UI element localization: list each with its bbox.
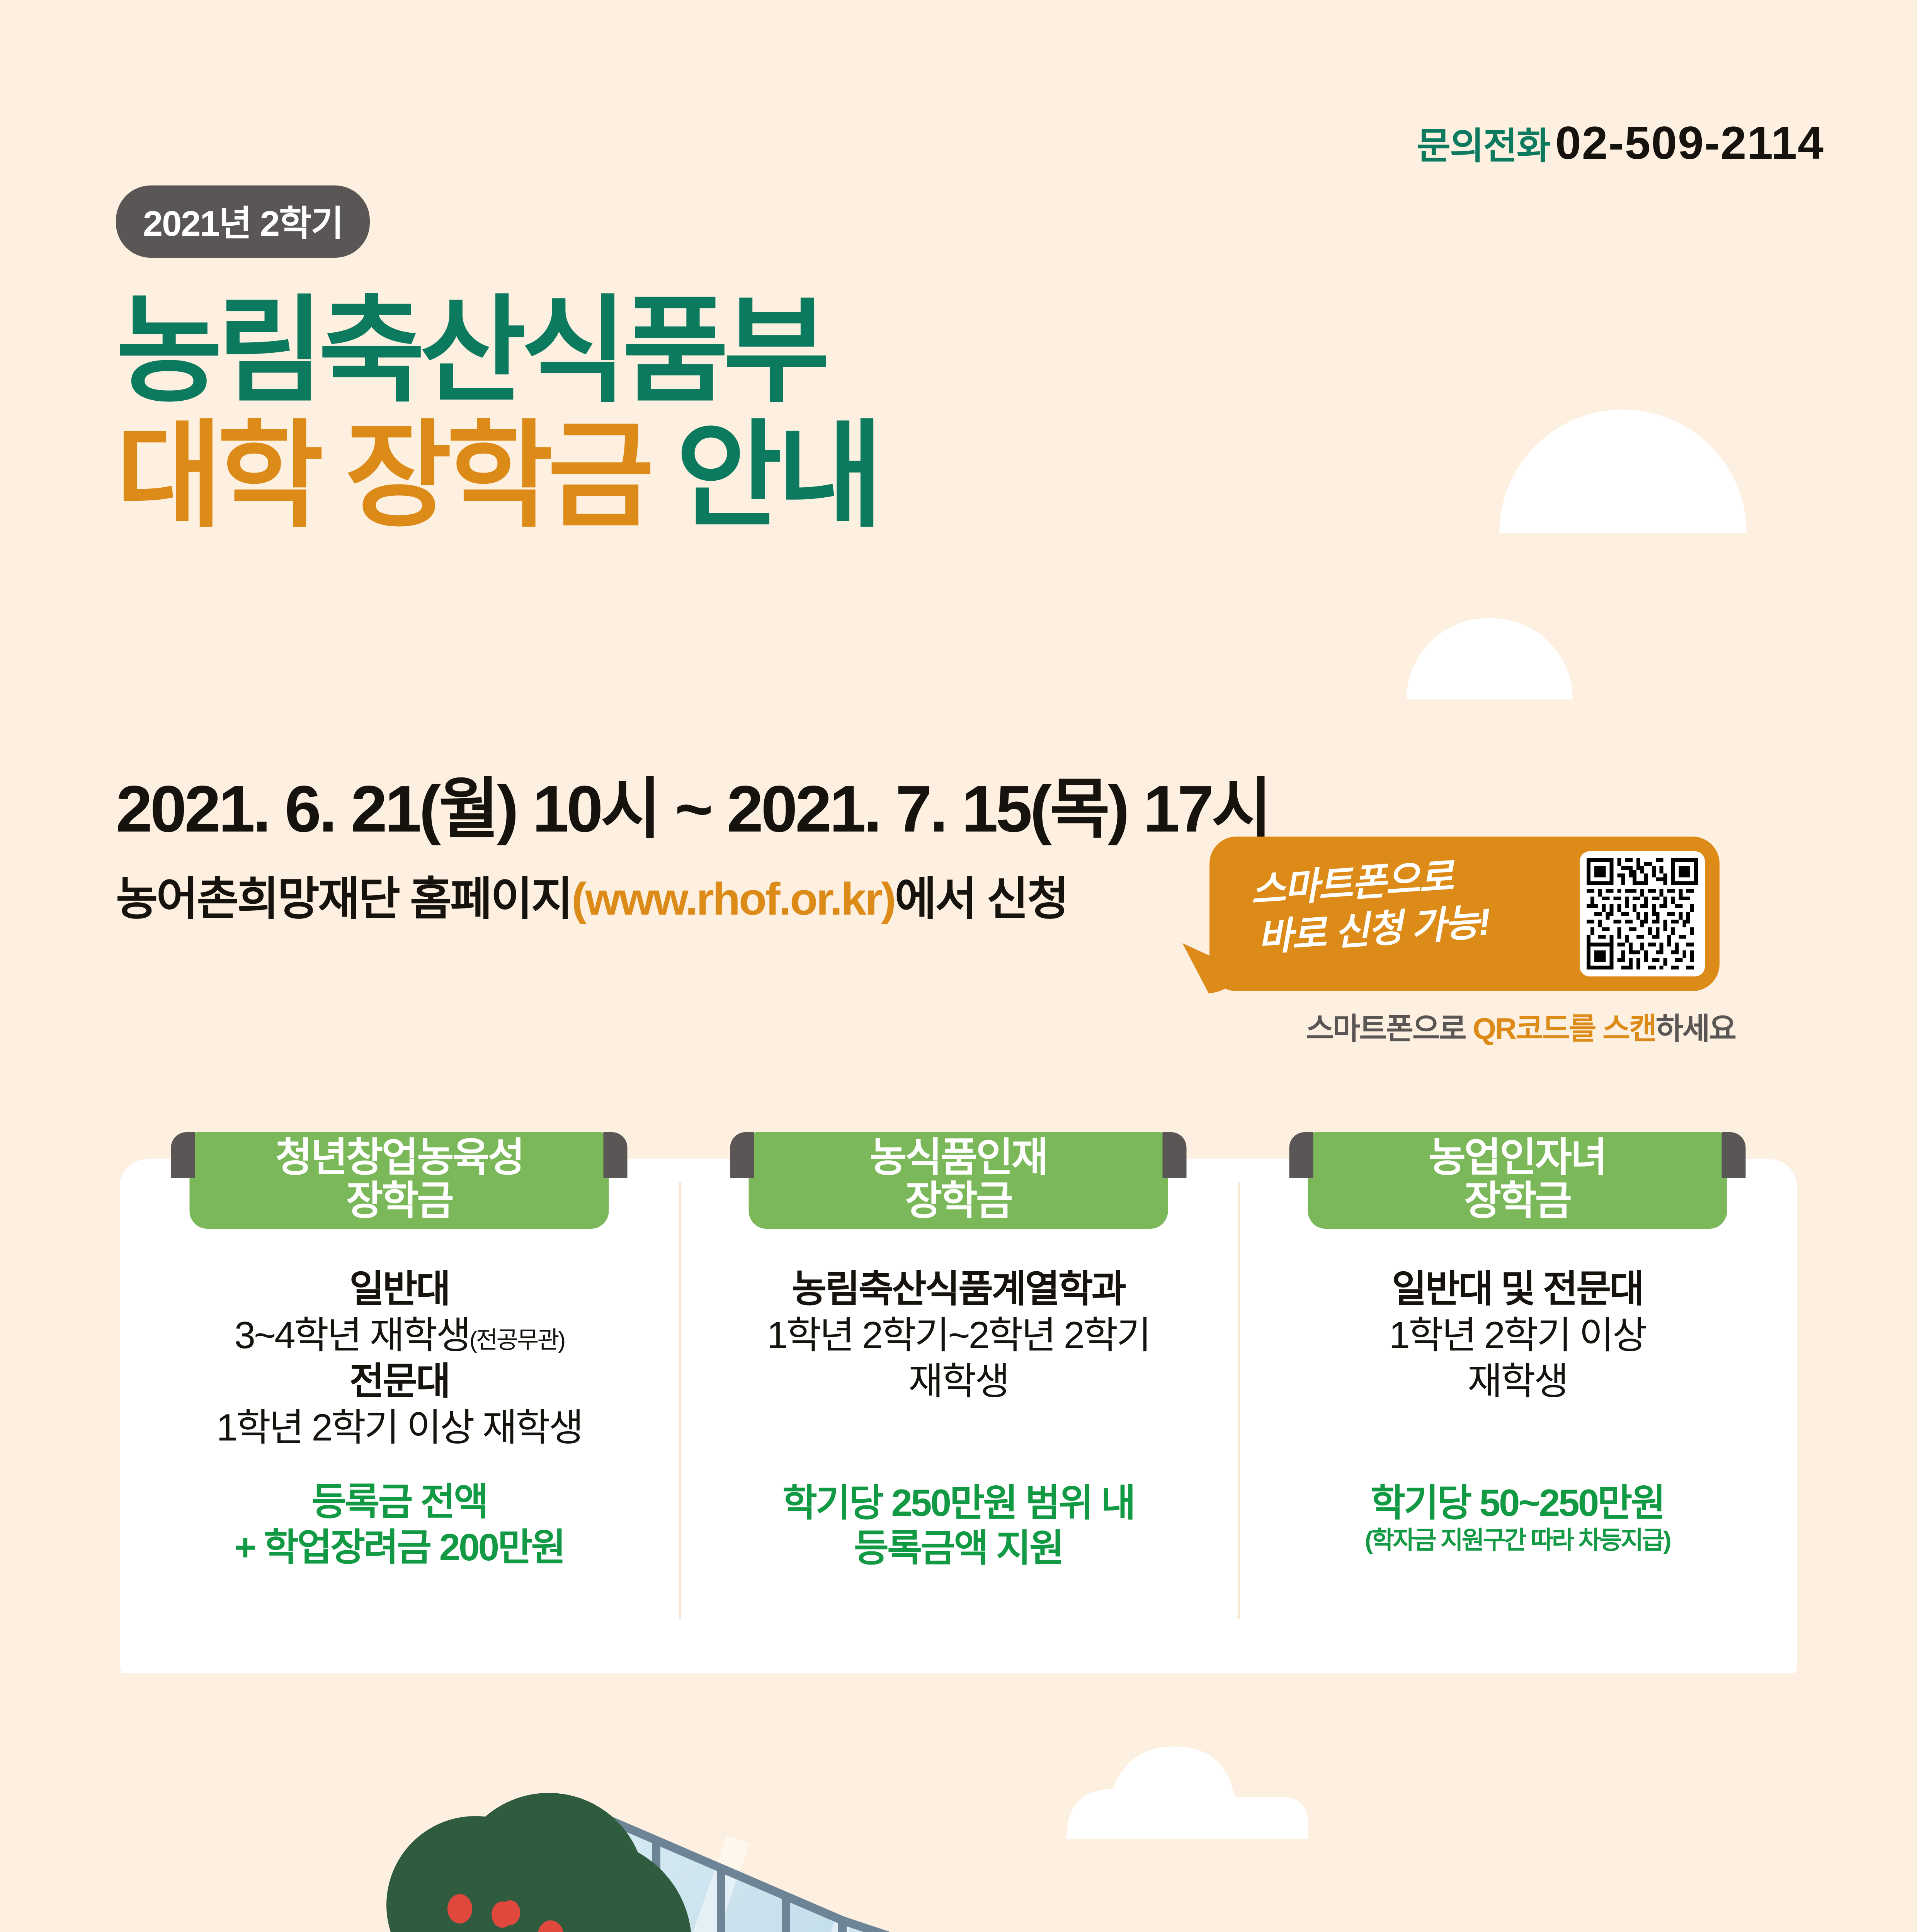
card-tab-line-1: 청년창업농육성 bbox=[275, 1136, 523, 1179]
card-tab-wrap: 청년창업농육성 장학금 bbox=[120, 1132, 679, 1229]
semester-badge: 2021년 2학기 bbox=[116, 185, 370, 258]
card-detail-text: 3~4학년 재학생 bbox=[234, 1314, 469, 1356]
title-line-2: 대학 장학금 안내 bbox=[116, 418, 878, 533]
card-tab-line-1: 농업인자녀 bbox=[1429, 1136, 1606, 1179]
apply-suffix: 에서 신청 bbox=[895, 874, 1067, 925]
application-period: 2021. 6. 21(월) 10시 ~ 2021. 7. 15(목) 17시 bbox=[116, 755, 1270, 850]
qr-caption-highlight: QR코드를 스캔 bbox=[1473, 1012, 1655, 1046]
cloud-1 bbox=[1499, 410, 1747, 533]
poster-title: 농림축산식품부 대학 장학금 안내 bbox=[116, 294, 878, 533]
tab-corner-right-icon bbox=[1163, 1132, 1187, 1178]
tab-corner-left-icon bbox=[171, 1132, 195, 1178]
card-tab: 농식품인재 장학금 bbox=[749, 1132, 1168, 1229]
card-tab-line-1: 농식품인재 bbox=[870, 1136, 1047, 1179]
apply-instruction: 농어촌희망재단 홈페이지(www.rhof.or.kr)에서 신청 bbox=[116, 862, 1067, 928]
apply-prefix: 농어촌희망재단 홈페이지 bbox=[116, 874, 572, 925]
qr-speech-bubble: 스마트폰으로 바로 신청 가능! bbox=[1209, 837, 1720, 991]
card-amount-line-2: + 학업장려금 200만원 bbox=[135, 1525, 663, 1570]
scholarship-card[interactable]: 농식품인재 장학금 농림축산식품계열학과 1학년 2학기~2학년 2학기 재학생… bbox=[679, 1132, 1238, 1692]
card-eligibility-detail-2: 재학생 bbox=[694, 1358, 1223, 1405]
farm-scene-illustration bbox=[0, 1673, 1917, 1932]
card-amount-note: (학자금 지원구간 따라 차등지급) bbox=[1253, 1526, 1781, 1555]
title-line-1: 농림축산식품부 bbox=[116, 294, 878, 408]
contact-info: 문의전화 02-509-2114 bbox=[1417, 116, 1824, 170]
card-detail-note: (전공무관) bbox=[469, 1327, 564, 1354]
card-tab: 청년창업농육성 장학금 bbox=[190, 1132, 609, 1229]
card-eligibility-detail-2: 재학생 bbox=[1253, 1358, 1781, 1405]
scholarship-card[interactable]: 농업인자녀 장학금 일반대 및 전문대 1학년 2학기 이상 재학생 학기당 5… bbox=[1238, 1132, 1797, 1692]
card-eligibility-heading: 일반대 bbox=[135, 1266, 663, 1312]
card-amount: 학기당 250만원 범위 내 등록금액 지원 bbox=[694, 1480, 1223, 1571]
title-scholarship: 대학 장학금 bbox=[116, 411, 649, 541]
card-tab-wrap: 농식품인재 장학금 bbox=[679, 1132, 1238, 1229]
qr-caption: 스마트폰으로 QR코드를 스캔하세요 bbox=[1306, 1005, 1735, 1048]
card-eligibility-detail: 1학년 2학기 이상 bbox=[1253, 1312, 1781, 1359]
card-tab-line-2: 장학금 bbox=[905, 1179, 1011, 1223]
cloud-2 bbox=[1407, 618, 1573, 699]
title-guide: 안내 bbox=[676, 411, 878, 541]
tab-corner-left-icon bbox=[730, 1132, 754, 1178]
card-amount-line-2: 등록금액 지원 bbox=[694, 1526, 1223, 1571]
card-eligibility-detail: 1학년 2학기~2학년 2학기 bbox=[694, 1312, 1223, 1359]
card-amount-line-1: 등록금 전액 bbox=[135, 1479, 663, 1525]
contact-number: 02-509-2114 bbox=[1555, 116, 1824, 170]
card-eligibility-heading: 일반대 및 전문대 bbox=[1253, 1266, 1781, 1312]
qr-bubble-text: 스마트폰으로 바로 신청 가능! bbox=[1249, 847, 1548, 961]
tab-corner-right-icon bbox=[604, 1132, 628, 1178]
card-tab: 농업인자녀 장학금 bbox=[1308, 1132, 1727, 1229]
apply-url[interactable]: (www.rhof.or.kr) bbox=[572, 874, 895, 925]
card-tab-line-2: 장학금 bbox=[1464, 1179, 1570, 1223]
card-eligibility-detail: 3~4학년 재학생(전공무관) bbox=[135, 1312, 663, 1359]
card-eligibility-detail-2: 1학년 2학기 이상 재학생 bbox=[135, 1405, 663, 1451]
tab-corner-left-icon bbox=[1289, 1132, 1313, 1178]
qr-code-icon[interactable] bbox=[1580, 851, 1705, 976]
card-amount: 학기당 50~250만원 (학자금 지원구간 따라 차등지급) bbox=[1253, 1480, 1781, 1555]
card-amount-line-1: 학기당 50~250만원 bbox=[1253, 1480, 1781, 1526]
contact-label: 문의전화 bbox=[1417, 116, 1550, 170]
qr-caption-pre: 스마트폰으로 bbox=[1306, 1012, 1473, 1046]
tab-corner-right-icon bbox=[1721, 1132, 1745, 1178]
card-tab-wrap: 농업인자녀 장학금 bbox=[1238, 1132, 1797, 1229]
card-eligibility-heading: 농림축산식품계열학과 bbox=[694, 1266, 1223, 1312]
scholarship-card[interactable]: 청년창업농육성 장학금 일반대 3~4학년 재학생(전공무관) 전문대 1학년 … bbox=[120, 1132, 679, 1692]
card-body: 농림축산식품계열학과 1학년 2학기~2학년 2학기 재학생 학기당 250만원… bbox=[679, 1229, 1238, 1571]
card-body: 일반대 및 전문대 1학년 2학기 이상 재학생 학기당 50~250만원 (학… bbox=[1238, 1229, 1797, 1555]
card-tab-line-2: 장학금 bbox=[346, 1179, 452, 1223]
scholarship-card-list: 청년창업농육성 장학금 일반대 3~4학년 재학생(전공무관) 전문대 1학년 … bbox=[120, 1132, 1797, 1692]
card-amount-line-1: 학기당 250만원 범위 내 bbox=[694, 1480, 1223, 1526]
card-body: 일반대 3~4학년 재학생(전공무관) 전문대 1학년 2학기 이상 재학생 등… bbox=[120, 1229, 679, 1570]
card-eligibility-heading-2: 전문대 bbox=[135, 1358, 663, 1405]
qr-caption-post: 하세요 bbox=[1656, 1012, 1735, 1046]
card-amount: 등록금 전액 + 학업장려금 200만원 bbox=[135, 1479, 663, 1570]
